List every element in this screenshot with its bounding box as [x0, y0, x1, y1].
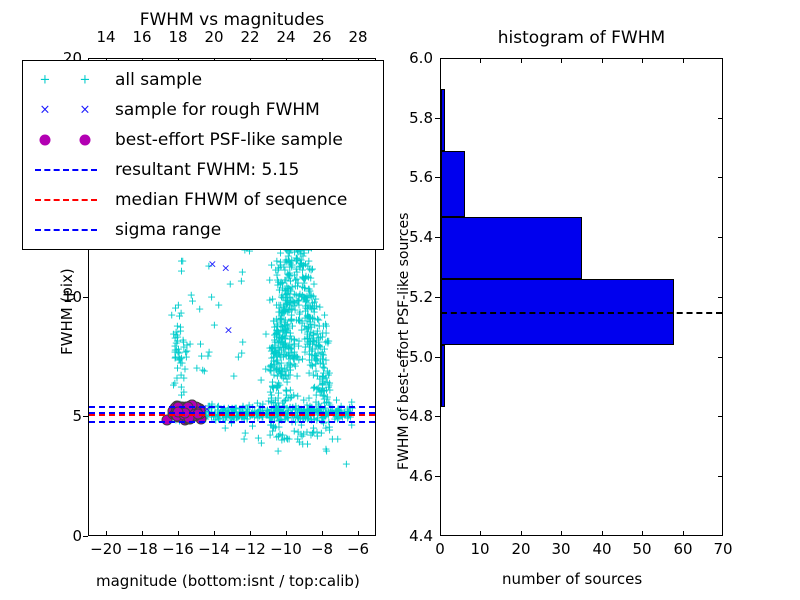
scatter-point-all-sample: + — [305, 341, 314, 352]
left-top-xtick-label: 20 — [204, 28, 223, 46]
left-top-xtick-label: 16 — [132, 28, 151, 46]
scatter-point-all-sample: + — [274, 378, 283, 389]
scatter-point-all-sample: + — [324, 380, 333, 391]
scatter-point-all-sample: + — [272, 364, 281, 375]
scatter-point-all-sample: + — [274, 343, 283, 354]
scatter-point-all-sample: + — [237, 348, 246, 359]
scatter-point-all-sample: + — [305, 284, 314, 295]
scatter-point-all-sample: + — [272, 269, 281, 280]
filled-circle-icon — [40, 135, 51, 146]
scatter-point-all-sample: + — [274, 431, 283, 442]
scatter-point-all-sample: + — [291, 281, 300, 292]
scatter-point-all-sample: + — [315, 302, 324, 313]
scatter-point-all-sample: + — [234, 351, 243, 362]
figure-canvas: FWHM vs magnitudes magnitude (bottom:isn… — [0, 0, 800, 600]
scatter-point-all-sample: + — [176, 358, 185, 369]
histogram-bar — [441, 345, 445, 407]
scatter-point-all-sample: + — [300, 346, 309, 357]
scatter-point-all-sample: + — [305, 286, 314, 297]
scatter-point-all-sample: + — [284, 349, 293, 360]
scatter-point-all-sample: + — [303, 328, 312, 339]
scatter-point-all-sample: + — [269, 316, 278, 327]
scatter-point-all-sample: + — [284, 282, 293, 293]
scatter-point-all-sample: + — [302, 315, 311, 326]
left-top-xtick-label: 24 — [276, 28, 295, 46]
scatter-point-all-sample: + — [318, 361, 327, 372]
scatter-point-all-sample: + — [282, 297, 291, 308]
scatter-point-all-sample: + — [277, 277, 286, 288]
scatter-point-all-sample: + — [274, 338, 283, 349]
scatter-point-all-sample: + — [310, 352, 319, 363]
scatter-point-all-sample: + — [288, 296, 297, 307]
scatter-point-all-sample: + — [272, 351, 281, 362]
scatter-point-all-sample: + — [313, 314, 322, 325]
scatter-point-all-sample: + — [285, 262, 294, 273]
scatter-point-all-sample: + — [276, 342, 285, 353]
scatter-point-all-sample: + — [314, 340, 323, 351]
scatter-point-all-sample: + — [317, 386, 326, 397]
hist-ytick-label: 5.8 — [395, 109, 433, 127]
scatter-point-all-sample: + — [171, 345, 180, 356]
scatter-point-all-sample: + — [312, 339, 321, 350]
scatter-point-all-sample: + — [273, 264, 282, 275]
scatter-point-all-sample: + — [279, 302, 288, 313]
scatter-point-all-sample: + — [283, 295, 292, 306]
scatter-point-all-sample: + — [277, 345, 286, 356]
scatter-point-all-sample: + — [271, 362, 280, 373]
scatter-point-all-sample: + — [276, 352, 285, 363]
scatter-point-all-sample: + — [303, 300, 312, 311]
scatter-point-all-sample: + — [287, 309, 296, 320]
scatter-point-all-sample: + — [278, 332, 287, 343]
hist-xtick-label: 70 — [713, 540, 732, 558]
scatter-point-all-sample: + — [275, 429, 284, 440]
scatter-point-all-sample: + — [266, 386, 275, 397]
scatter-point-all-sample: + — [282, 390, 291, 401]
scatter-point-all-sample: + — [272, 383, 281, 394]
scatter-point-all-sample: + — [306, 336, 315, 347]
scatter-point-all-sample: + — [271, 347, 280, 358]
scatter-point-all-sample: + — [312, 414, 321, 425]
scatter-point-all-sample: + — [305, 348, 314, 359]
scatter-point-all-sample: + — [309, 335, 318, 346]
scatter-point-all-sample: + — [294, 355, 303, 366]
scatter-point-all-sample: + — [284, 323, 293, 334]
scatter-point-all-sample: + — [292, 273, 301, 284]
scatter-point-all-sample: + — [276, 351, 285, 362]
legend-item-median-fhwm: median FHWM of sequence — [23, 185, 383, 215]
scatter-point-all-sample: + — [298, 317, 307, 328]
scatter-point-all-sample: + — [314, 340, 323, 351]
scatter-point-all-sample: + — [321, 423, 330, 434]
scatter-point-all-sample: + — [301, 273, 310, 284]
scatter-point-all-sample: + — [325, 425, 334, 436]
scatter-point-all-sample: + — [281, 328, 290, 339]
scatter-point-all-sample: + — [311, 366, 320, 377]
scatter-point-all-sample: + — [268, 377, 277, 388]
scatter-point-all-sample: + — [308, 344, 317, 355]
scatter-point-all-sample: + — [292, 255, 301, 266]
scatter-point-all-sample: + — [277, 435, 286, 446]
scatter-point-all-sample: + — [304, 337, 313, 348]
scatter-point-all-sample: + — [281, 290, 290, 301]
hist-xtick-label: 50 — [632, 540, 651, 558]
scatter-point-all-sample: + — [317, 427, 326, 438]
scatter-point-all-sample: + — [293, 390, 302, 401]
scatter-point-all-sample: + — [300, 283, 309, 294]
scatter-point-all-sample: + — [171, 302, 180, 313]
scatter-point-all-sample: + — [313, 326, 322, 337]
scatter-point-all-sample: + — [277, 371, 286, 382]
scatter-point-all-sample: + — [276, 299, 285, 310]
scatter-point-all-sample: + — [237, 275, 246, 286]
scatter-point-all-sample: + — [309, 427, 318, 438]
scatter-point-all-sample: + — [280, 306, 289, 317]
scatter-point-all-sample: + — [284, 393, 293, 404]
scatter-point-all-sample: + — [308, 428, 317, 439]
hist-ytick — [435, 416, 440, 417]
scatter-point-all-sample: + — [285, 369, 294, 380]
scatter-point-all-sample: + — [318, 328, 327, 339]
scatter-point-all-sample: + — [172, 344, 181, 355]
scatter-point-all-sample: + — [293, 253, 302, 264]
scatter-point-all-sample: + — [277, 291, 286, 302]
scatter-point-all-sample: + — [292, 290, 301, 301]
hist-ytick — [435, 476, 440, 477]
scatter-point-all-sample: + — [269, 370, 278, 381]
scatter-point-all-sample: + — [323, 335, 332, 346]
scatter-point-all-sample: + — [287, 261, 296, 272]
scatter-point-all-sample: + — [312, 301, 321, 312]
scatter-point-all-sample: + — [297, 316, 306, 327]
scatter-point-all-sample: + — [290, 298, 299, 309]
scatter-point-all-sample: + — [280, 346, 289, 357]
scatter-point-all-sample: + — [169, 328, 178, 339]
scatter-point-all-sample: + — [290, 333, 299, 344]
reference-line-sigma-range-lower — [89, 421, 375, 423]
scatter-point-all-sample: + — [277, 312, 286, 323]
scatter-point-all-sample: + — [315, 320, 324, 331]
scatter-point-all-sample: + — [273, 321, 282, 332]
legend-label: sample for rough FWHM — [115, 100, 320, 120]
scatter-point-all-sample: + — [319, 367, 328, 378]
scatter-point-all-sample: + — [296, 258, 305, 269]
scatter-point-all-sample: + — [280, 433, 289, 444]
scatter-point-all-sample: + — [287, 334, 296, 345]
scatter-point-all-sample: + — [290, 349, 299, 360]
scatter-point-all-sample: + — [307, 355, 316, 366]
scatter-point-all-sample: + — [302, 323, 311, 334]
scatter-point-all-sample: + — [207, 291, 216, 302]
legend-item-psf-like: best-effort PSF-like sample — [23, 125, 383, 155]
scatter-point-all-sample: + — [298, 272, 307, 283]
scatter-point-all-sample: + — [294, 296, 303, 307]
scatter-point-all-sample: + — [308, 298, 317, 309]
scatter-point-all-sample: + — [310, 307, 319, 318]
left-ytick — [83, 416, 88, 417]
scatter-point-psf-like — [180, 415, 191, 426]
scatter-point-all-sample: + — [297, 257, 306, 268]
scatter-point-all-sample: + — [282, 365, 291, 376]
scatter-point-all-sample: + — [204, 347, 213, 358]
left-plot-title: FWHM vs magnitudes — [88, 10, 376, 30]
scatter-point-all-sample: + — [281, 337, 290, 348]
scatter-point-all-sample: + — [318, 379, 327, 390]
scatter-point-all-sample: + — [309, 290, 318, 301]
scatter-point-all-sample: + — [305, 333, 314, 344]
scatter-point-all-sample: + — [279, 326, 288, 337]
scatter-point-all-sample: + — [311, 344, 320, 355]
hist-ytick — [435, 357, 440, 358]
scatter-point-all-sample: + — [283, 297, 292, 308]
scatter-point-all-sample: + — [318, 372, 327, 383]
scatter-point-all-sample: + — [278, 321, 287, 332]
scatter-point-all-sample: + — [265, 342, 274, 353]
scatter-point-all-sample: + — [303, 309, 312, 320]
scatter-point-all-sample: + — [321, 354, 330, 365]
scatter-point-all-sample: + — [269, 315, 278, 326]
scatter-point-all-sample: + — [293, 351, 302, 362]
scatter-point-all-sample: + — [268, 344, 277, 355]
scatter-point-all-sample: + — [271, 346, 280, 357]
scatter-point-all-sample: + — [297, 254, 306, 265]
scatter-point-all-sample: + — [279, 341, 288, 352]
scatter-point-all-sample: + — [302, 295, 311, 306]
scatter-point-all-sample: + — [306, 318, 315, 329]
scatter-point-all-sample: + — [279, 301, 288, 312]
scatter-point-all-sample: + — [296, 428, 305, 439]
scatter-point-all-sample: + — [312, 350, 321, 361]
scatter-point-all-sample: + — [290, 270, 299, 281]
scatter-point-all-sample: + — [325, 377, 334, 388]
scatter-point-all-sample: + — [277, 338, 286, 349]
scatter-point-all-sample: + — [179, 336, 188, 347]
scatter-point-all-sample: + — [276, 256, 285, 267]
scatter-point-all-sample: + — [282, 299, 291, 310]
scatter-point-all-sample: + — [301, 301, 310, 312]
scatter-point-all-sample: + — [195, 304, 204, 315]
scatter-point-all-sample: + — [270, 340, 279, 351]
scatter-point-all-sample: + — [294, 299, 303, 310]
scatter-point-all-sample: + — [311, 354, 320, 365]
scatter-point-all-sample: + — [176, 325, 185, 336]
scatter-point-all-sample: + — [293, 277, 302, 288]
scatter-point-all-sample: + — [272, 380, 281, 391]
scatter-point-all-sample: + — [172, 327, 181, 338]
scatter-point-all-sample: + — [309, 370, 318, 381]
scatter-point-all-sample: + — [265, 294, 274, 305]
scatter-point-all-sample: + — [295, 306, 304, 317]
scatter-point-all-sample: + — [312, 427, 321, 438]
scatter-point-all-sample: + — [279, 325, 288, 336]
scatter-point-all-sample: + — [269, 348, 278, 359]
scatter-point-all-sample: + — [271, 265, 280, 276]
scatter-point-all-sample: + — [309, 314, 318, 325]
scatter-point-all-sample: + — [287, 314, 296, 325]
scatter-point-all-sample: + — [313, 355, 322, 366]
scatter-point-all-sample: + — [273, 326, 282, 337]
scatter-point-all-sample: + — [292, 351, 301, 362]
scatter-point-all-sample: + — [179, 342, 188, 353]
scatter-point-all-sample: + — [277, 311, 286, 322]
scatter-point-all-sample: + — [302, 293, 311, 304]
scatter-point-all-sample: + — [309, 423, 318, 434]
scatter-point-all-sample: + — [283, 305, 292, 316]
histogram-bar — [441, 89, 445, 151]
scatter-point-all-sample: + — [294, 291, 303, 302]
scatter-point-all-sample: + — [297, 430, 306, 441]
scatter-point-all-sample: + — [310, 381, 319, 392]
scatter-point-all-sample: + — [173, 332, 182, 343]
scatter-point-all-sample: + — [319, 349, 328, 360]
scatter-point-all-sample: + — [285, 284, 294, 295]
scatter-point-all-sample: + — [304, 367, 313, 378]
scatter-point-all-sample: + — [272, 328, 281, 339]
left-xtick-label: −16 — [162, 540, 194, 558]
scatter-point-all-sample: + — [301, 259, 310, 270]
left-xtick-label: −12 — [234, 540, 266, 558]
scatter-point-all-sample: + — [279, 307, 288, 318]
scatter-point-all-sample: + — [281, 305, 290, 316]
scatter-point-all-sample: + — [282, 326, 291, 337]
scatter-point-all-sample: + — [265, 364, 274, 375]
scatter-point-all-sample: + — [204, 261, 213, 272]
scatter-point-all-sample: + — [210, 320, 219, 331]
scatter-point-all-sample: + — [265, 274, 274, 285]
scatter-point-all-sample: + — [316, 353, 325, 364]
scatter-point-all-sample: + — [278, 366, 287, 377]
scatter-point-all-sample: + — [271, 422, 280, 433]
dashdot-line-icon — [35, 229, 97, 231]
scatter-point-all-sample: + — [178, 335, 187, 346]
scatter-point-all-sample: + — [171, 333, 180, 344]
scatter-point-all-sample: + — [273, 358, 282, 369]
scatter-point-all-sample: + — [307, 359, 316, 370]
scatter-point-all-sample: + — [305, 311, 314, 322]
scatter-point-all-sample: + — [270, 358, 279, 369]
scatter-point-all-sample: + — [282, 377, 291, 388]
scatter-point-all-sample: + — [280, 330, 289, 341]
scatter-point-all-sample: + — [321, 444, 330, 455]
scatter-point-all-sample: + — [319, 391, 328, 402]
scatter-point-all-sample: + — [280, 264, 289, 275]
scatter-point-all-sample: + — [276, 320, 285, 331]
scatter-point-all-sample: + — [170, 347, 179, 358]
scatter-point-all-sample: + — [278, 278, 287, 289]
scatter-point-all-sample: + — [277, 332, 286, 343]
scatter-point-all-sample: + — [284, 357, 293, 368]
scatter-point-all-sample: + — [304, 323, 313, 334]
scatter-point-all-sample: + — [188, 295, 197, 306]
scatter-point-all-sample: + — [182, 346, 191, 357]
scatter-point-all-sample: + — [278, 430, 287, 441]
scatter-point-all-sample: + — [311, 293, 320, 304]
histogram-plot-area — [441, 59, 722, 535]
scatter-point-all-sample: + — [308, 263, 317, 274]
scatter-point-all-sample: + — [226, 278, 235, 289]
scatter-point-psf-like — [186, 399, 197, 410]
scatter-point-all-sample: + — [314, 332, 323, 343]
reference-line-median-fhwm-of-sequence — [89, 414, 375, 416]
scatter-point-all-sample: + — [270, 335, 279, 346]
scatter-point-all-sample: + — [316, 386, 325, 397]
scatter-point-all-sample: + — [280, 363, 289, 374]
scatter-point-all-sample: + — [254, 433, 263, 444]
scatter-point-all-sample: + — [320, 363, 329, 374]
scatter-point-all-sample: + — [267, 346, 276, 357]
scatter-point-all-sample: + — [310, 296, 319, 307]
scatter-point-all-sample: + — [284, 251, 293, 262]
scatter-point-all-sample: + — [268, 346, 277, 357]
legend-label: median FHWM of sequence — [115, 190, 347, 210]
scatter-point-all-sample: + — [318, 353, 327, 364]
scatter-point-all-sample: + — [273, 275, 282, 286]
scatter-point-all-sample: + — [304, 272, 313, 283]
scatter-point-all-sample: + — [323, 337, 332, 348]
scatter-point-all-sample: + — [283, 268, 292, 279]
scatter-point-all-sample: + — [272, 328, 281, 339]
scatter-point-all-sample: + — [286, 296, 295, 307]
scatter-point-all-sample: + — [304, 286, 313, 297]
scatter-point-all-sample: + — [294, 314, 303, 325]
scatter-point-all-sample: + — [273, 446, 282, 457]
left-ytick — [83, 536, 88, 537]
scatter-point-all-sample: + — [322, 445, 331, 456]
legend-label: sigma range — [115, 220, 221, 240]
scatter-point-all-sample: + — [325, 368, 334, 379]
scatter-point-all-sample: + — [305, 316, 314, 327]
scatter-point-all-sample: + — [285, 333, 294, 344]
scatter-point-all-sample: + — [284, 273, 293, 284]
hist-ytick — [435, 297, 440, 298]
scatter-point-all-sample: + — [274, 349, 283, 360]
scatter-point-all-sample: + — [286, 384, 295, 395]
scatter-point-all-sample: + — [286, 359, 295, 370]
scatter-point-all-sample: + — [272, 348, 281, 359]
dashed-line-icon — [35, 169, 97, 171]
scatter-point-all-sample: + — [275, 303, 284, 314]
left-ytick — [83, 297, 88, 298]
scatter-point-all-sample: + — [301, 292, 310, 303]
scatter-point-all-sample: + — [280, 307, 289, 318]
scatter-point-all-sample: + — [284, 350, 293, 361]
scatter-point-all-sample: + — [285, 293, 294, 304]
scatter-point-all-sample: + — [269, 423, 278, 434]
hist-ytick-label: 4.6 — [395, 467, 433, 485]
scatter-point-all-sample: + — [308, 301, 317, 312]
scatter-point-all-sample: + — [305, 331, 314, 342]
scatter-point-all-sample: + — [275, 344, 284, 355]
legend-label: resultant FWHM: 5.15 — [115, 160, 299, 180]
hist-ytick — [435, 177, 440, 178]
scatter-point-all-sample: + — [269, 356, 278, 367]
scatter-point-all-sample: + — [304, 283, 313, 294]
scatter-point-all-sample: + — [177, 382, 186, 393]
scatter-point-all-sample: + — [315, 385, 324, 396]
scatter-point-all-sample: + — [319, 321, 328, 332]
scatter-point-all-sample: + — [276, 337, 285, 348]
hist-ytick-label: 5.0 — [395, 348, 433, 366]
scatter-point-all-sample: + — [276, 260, 285, 271]
scatter-point-all-sample: + — [274, 307, 283, 318]
scatter-point-all-sample: + — [282, 319, 291, 330]
scatter-point-all-sample: + — [324, 381, 333, 392]
plus-icon: + — [80, 74, 91, 87]
scatter-point-all-sample: + — [280, 333, 289, 344]
scatter-point-all-sample: + — [290, 358, 299, 369]
scatter-point-all-sample: + — [285, 305, 294, 316]
scatter-point-all-sample: + — [280, 304, 289, 315]
